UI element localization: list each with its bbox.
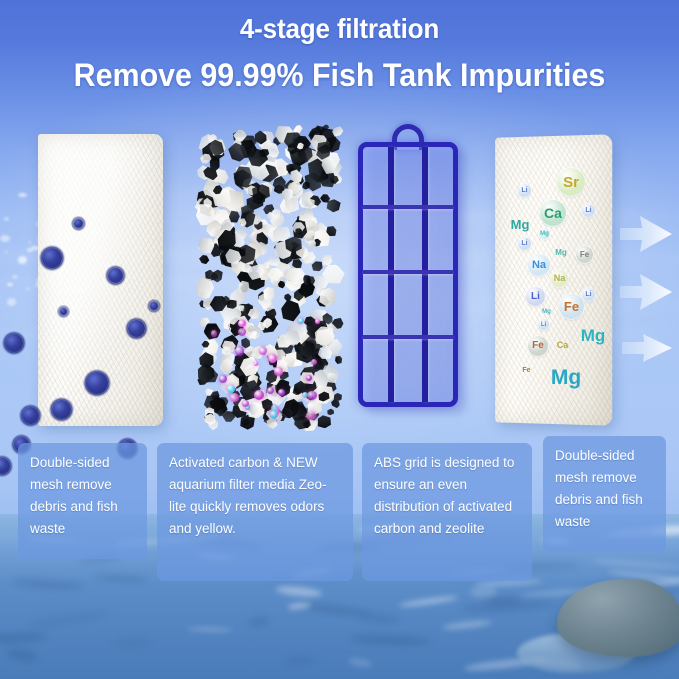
caption-row: Double-sided mesh remove debris and fish… xyxy=(0,0,679,679)
stage-2-caption: Activated carbon & NEW aquarium filter m… xyxy=(157,443,353,581)
stage-4-caption: Double-sided mesh remove debris and fish… xyxy=(543,436,666,552)
stage-1-caption: Double-sided mesh remove debris and fish… xyxy=(18,443,147,559)
product-infographic: 4-stage filtration Remove 99.99% Fish Ta… xyxy=(0,0,679,679)
stage-3-caption: ABS grid is designed to ensure an even d… xyxy=(362,443,532,581)
